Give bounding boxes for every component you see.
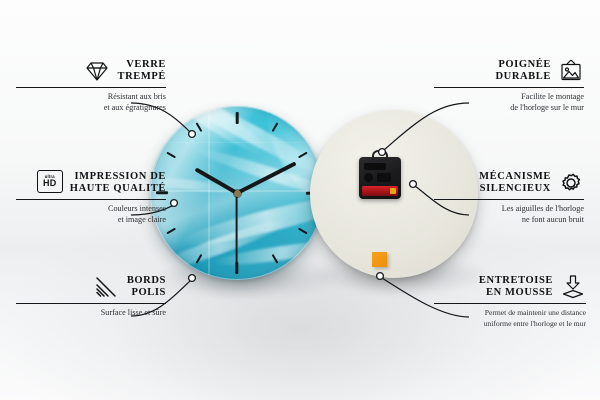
artwork-grid-line	[208, 106, 210, 280]
gear-icon	[558, 170, 584, 196]
callout-bords-polis[interactable]: BORDS POLIS Surface lisse et sûre	[16, 274, 166, 319]
foam-spacer	[372, 252, 387, 267]
callout-description: Couleurs intenses et image claire	[16, 204, 166, 225]
callout-title: MÉCANISME SILENCIEUX	[479, 171, 551, 196]
callout-impression-haute-qualite[interactable]: ultra HD IMPRESSION DE HAUTE QUALITÉ Cou…	[16, 170, 166, 225]
battery	[362, 186, 398, 196]
callout-title: BORDS POLIS	[127, 275, 166, 300]
callout-description: Surface lisse et sûre	[16, 308, 166, 318]
callout-description: Permet de maintenir une distance uniform…	[434, 308, 586, 329]
polished-edges-icon	[94, 274, 120, 300]
callout-mecanisme-silencieux[interactable]: MÉCANISME SILENCIEUX Les aiguilles de l'…	[434, 170, 584, 225]
artwork-grid-line	[150, 142, 324, 143]
callout-verre-trempe[interactable]: VERRE TREMPÉ Résistant aux bris et aux é…	[16, 58, 166, 113]
callout-description: Facilite le montage de l'horloge sur le …	[434, 92, 584, 113]
clock-hub	[234, 190, 241, 197]
clock-front-view[interactable]	[150, 106, 324, 280]
hd-badge-large-label: HD	[43, 179, 57, 188]
movement-detail	[364, 163, 386, 170]
callout-title: VERRE TREMPÉ	[117, 59, 166, 84]
callout-entretoise-mousse[interactable]: ENTRETOISE EN MOUSSE Permet de maintenir…	[434, 274, 586, 329]
callout-title: POIGNÉE DURABLE	[495, 59, 551, 84]
quartz-movement	[359, 157, 401, 199]
callout-title: ENTRETOISE EN MOUSSE	[479, 275, 553, 300]
diamond-icon	[84, 58, 110, 84]
callout-rule	[16, 87, 166, 88]
callout-rule	[434, 303, 586, 304]
callout-description: Les aiguilles de l'horloge ne font aucun…	[434, 204, 584, 225]
hanger-loop-icon	[372, 150, 388, 160]
movement-detail	[377, 173, 391, 182]
callout-rule	[16, 199, 166, 200]
callout-rule	[434, 199, 584, 200]
callout-poignee-durable[interactable]: POIGNÉE DURABLE Facilite le montage de l…	[434, 58, 584, 113]
callout-rule	[16, 303, 166, 304]
ultra-hd-icon: ultra HD	[37, 170, 63, 196]
movement-detail	[364, 173, 373, 182]
product-infographic: VERRE TREMPÉ Résistant aux bris et aux é…	[0, 0, 600, 400]
second-hand	[236, 193, 238, 265]
callout-description: Résistant aux bris et aux égratignures	[16, 92, 166, 113]
clock-tick	[236, 112, 239, 124]
callout-rule	[434, 87, 584, 88]
callout-title: IMPRESSION DE HAUTE QUALITÉ	[70, 171, 166, 196]
foam-spacer-icon	[560, 274, 586, 300]
hanging-frame-icon	[558, 58, 584, 84]
